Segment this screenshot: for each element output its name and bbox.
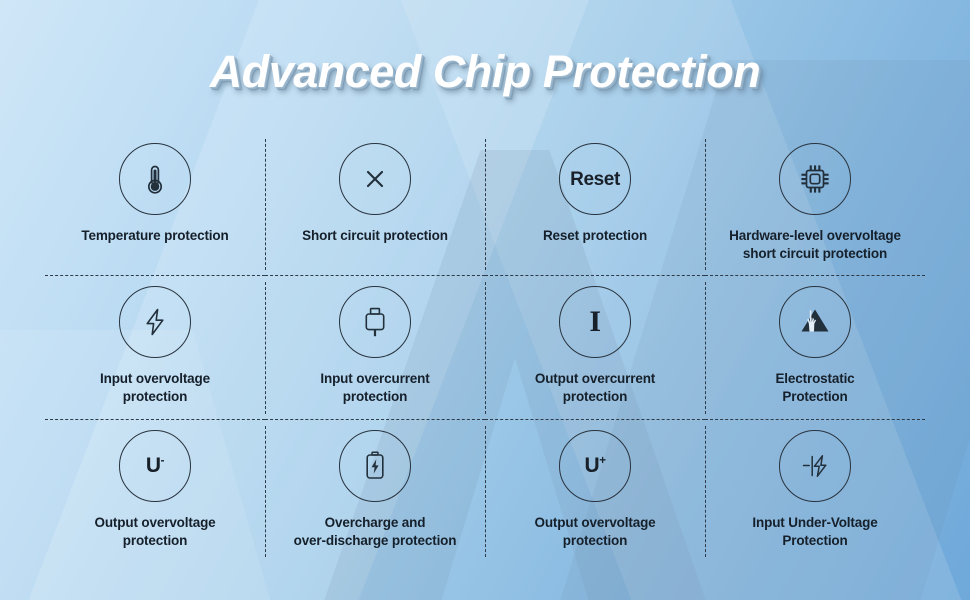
cross-x-icon xyxy=(339,143,411,215)
feature-cell-electrostatic-protection: Electrostatic Protection xyxy=(705,276,925,419)
feature-label: Electrostatic Protection xyxy=(775,370,854,406)
feature-label: Short circuit protection xyxy=(302,227,448,245)
feature-cell-reset-protection: Reset Reset protection xyxy=(485,133,705,276)
esd-triangle-hand-icon xyxy=(779,286,851,358)
current-i-icon-label: I xyxy=(589,307,600,337)
voltage-u-minus-icon: U- xyxy=(119,430,191,502)
feature-label: Reset protection xyxy=(543,227,647,245)
feature-cell-short-circuit-protection: Short circuit protection xyxy=(265,133,485,276)
voltage-u-plus-label: U+ xyxy=(584,455,605,476)
feature-cell-input-under-voltage-protection: Input Under-Voltage Protection xyxy=(705,420,925,563)
feature-label: Hardware-level overvoltage short circuit… xyxy=(729,227,901,263)
feature-label: Output overcurrent protection xyxy=(535,370,655,406)
feature-label: Output overvoltage protection xyxy=(534,514,655,550)
battery-bolt-icon xyxy=(339,430,411,502)
feature-label: Overcharge and over-discharge protection xyxy=(294,514,457,550)
feature-cell-hardware-level-overvoltage: Hardware-level overvoltage short circuit… xyxy=(705,133,925,276)
voltage-u-plus-icon: U+ xyxy=(559,430,631,502)
feature-cell-output-overvoltage-protection-plus: U+ Output overvoltage protection xyxy=(485,420,705,563)
feature-label: Input Under-Voltage Protection xyxy=(752,514,877,550)
feature-label: Input overcurrent protection xyxy=(320,370,429,406)
voltage-u-minus-label: U- xyxy=(146,455,164,476)
feature-cell-overcharge-over-discharge-protection: Overcharge and over-discharge protection xyxy=(265,420,485,563)
feature-label: Temperature protection xyxy=(81,227,228,245)
feature-label: Output overvoltage protection xyxy=(94,514,215,550)
poster-stage: Advanced Chip Protection Temperature pro… xyxy=(0,0,970,600)
protection-feature-grid: Temperature protection Short circuit pro… xyxy=(45,133,925,563)
feature-cell-temperature-protection: Temperature protection xyxy=(45,133,265,276)
undervoltage-bolt-icon xyxy=(779,430,851,502)
reset-icon-label: Reset xyxy=(570,170,620,189)
usb-plug-icon xyxy=(339,286,411,358)
feature-label: Input overvoltage protection xyxy=(100,370,210,406)
page-title: Advanced Chip Protection xyxy=(0,46,970,98)
feature-cell-output-overcurrent-protection: I Output overcurrent protection xyxy=(485,276,705,419)
reset-text-icon: Reset xyxy=(559,143,631,215)
feature-cell-input-overcurrent-protection: Input overcurrent protection xyxy=(265,276,485,419)
feature-cell-output-overvoltage-protection-minus: U- Output overvoltage protection xyxy=(45,420,265,563)
lightning-bolt-outline-icon xyxy=(119,286,191,358)
chip-icon xyxy=(779,143,851,215)
current-i-icon: I xyxy=(559,286,631,358)
thermometer-icon xyxy=(119,143,191,215)
feature-cell-input-overvoltage-protection: Input overvoltage protection xyxy=(45,276,265,419)
